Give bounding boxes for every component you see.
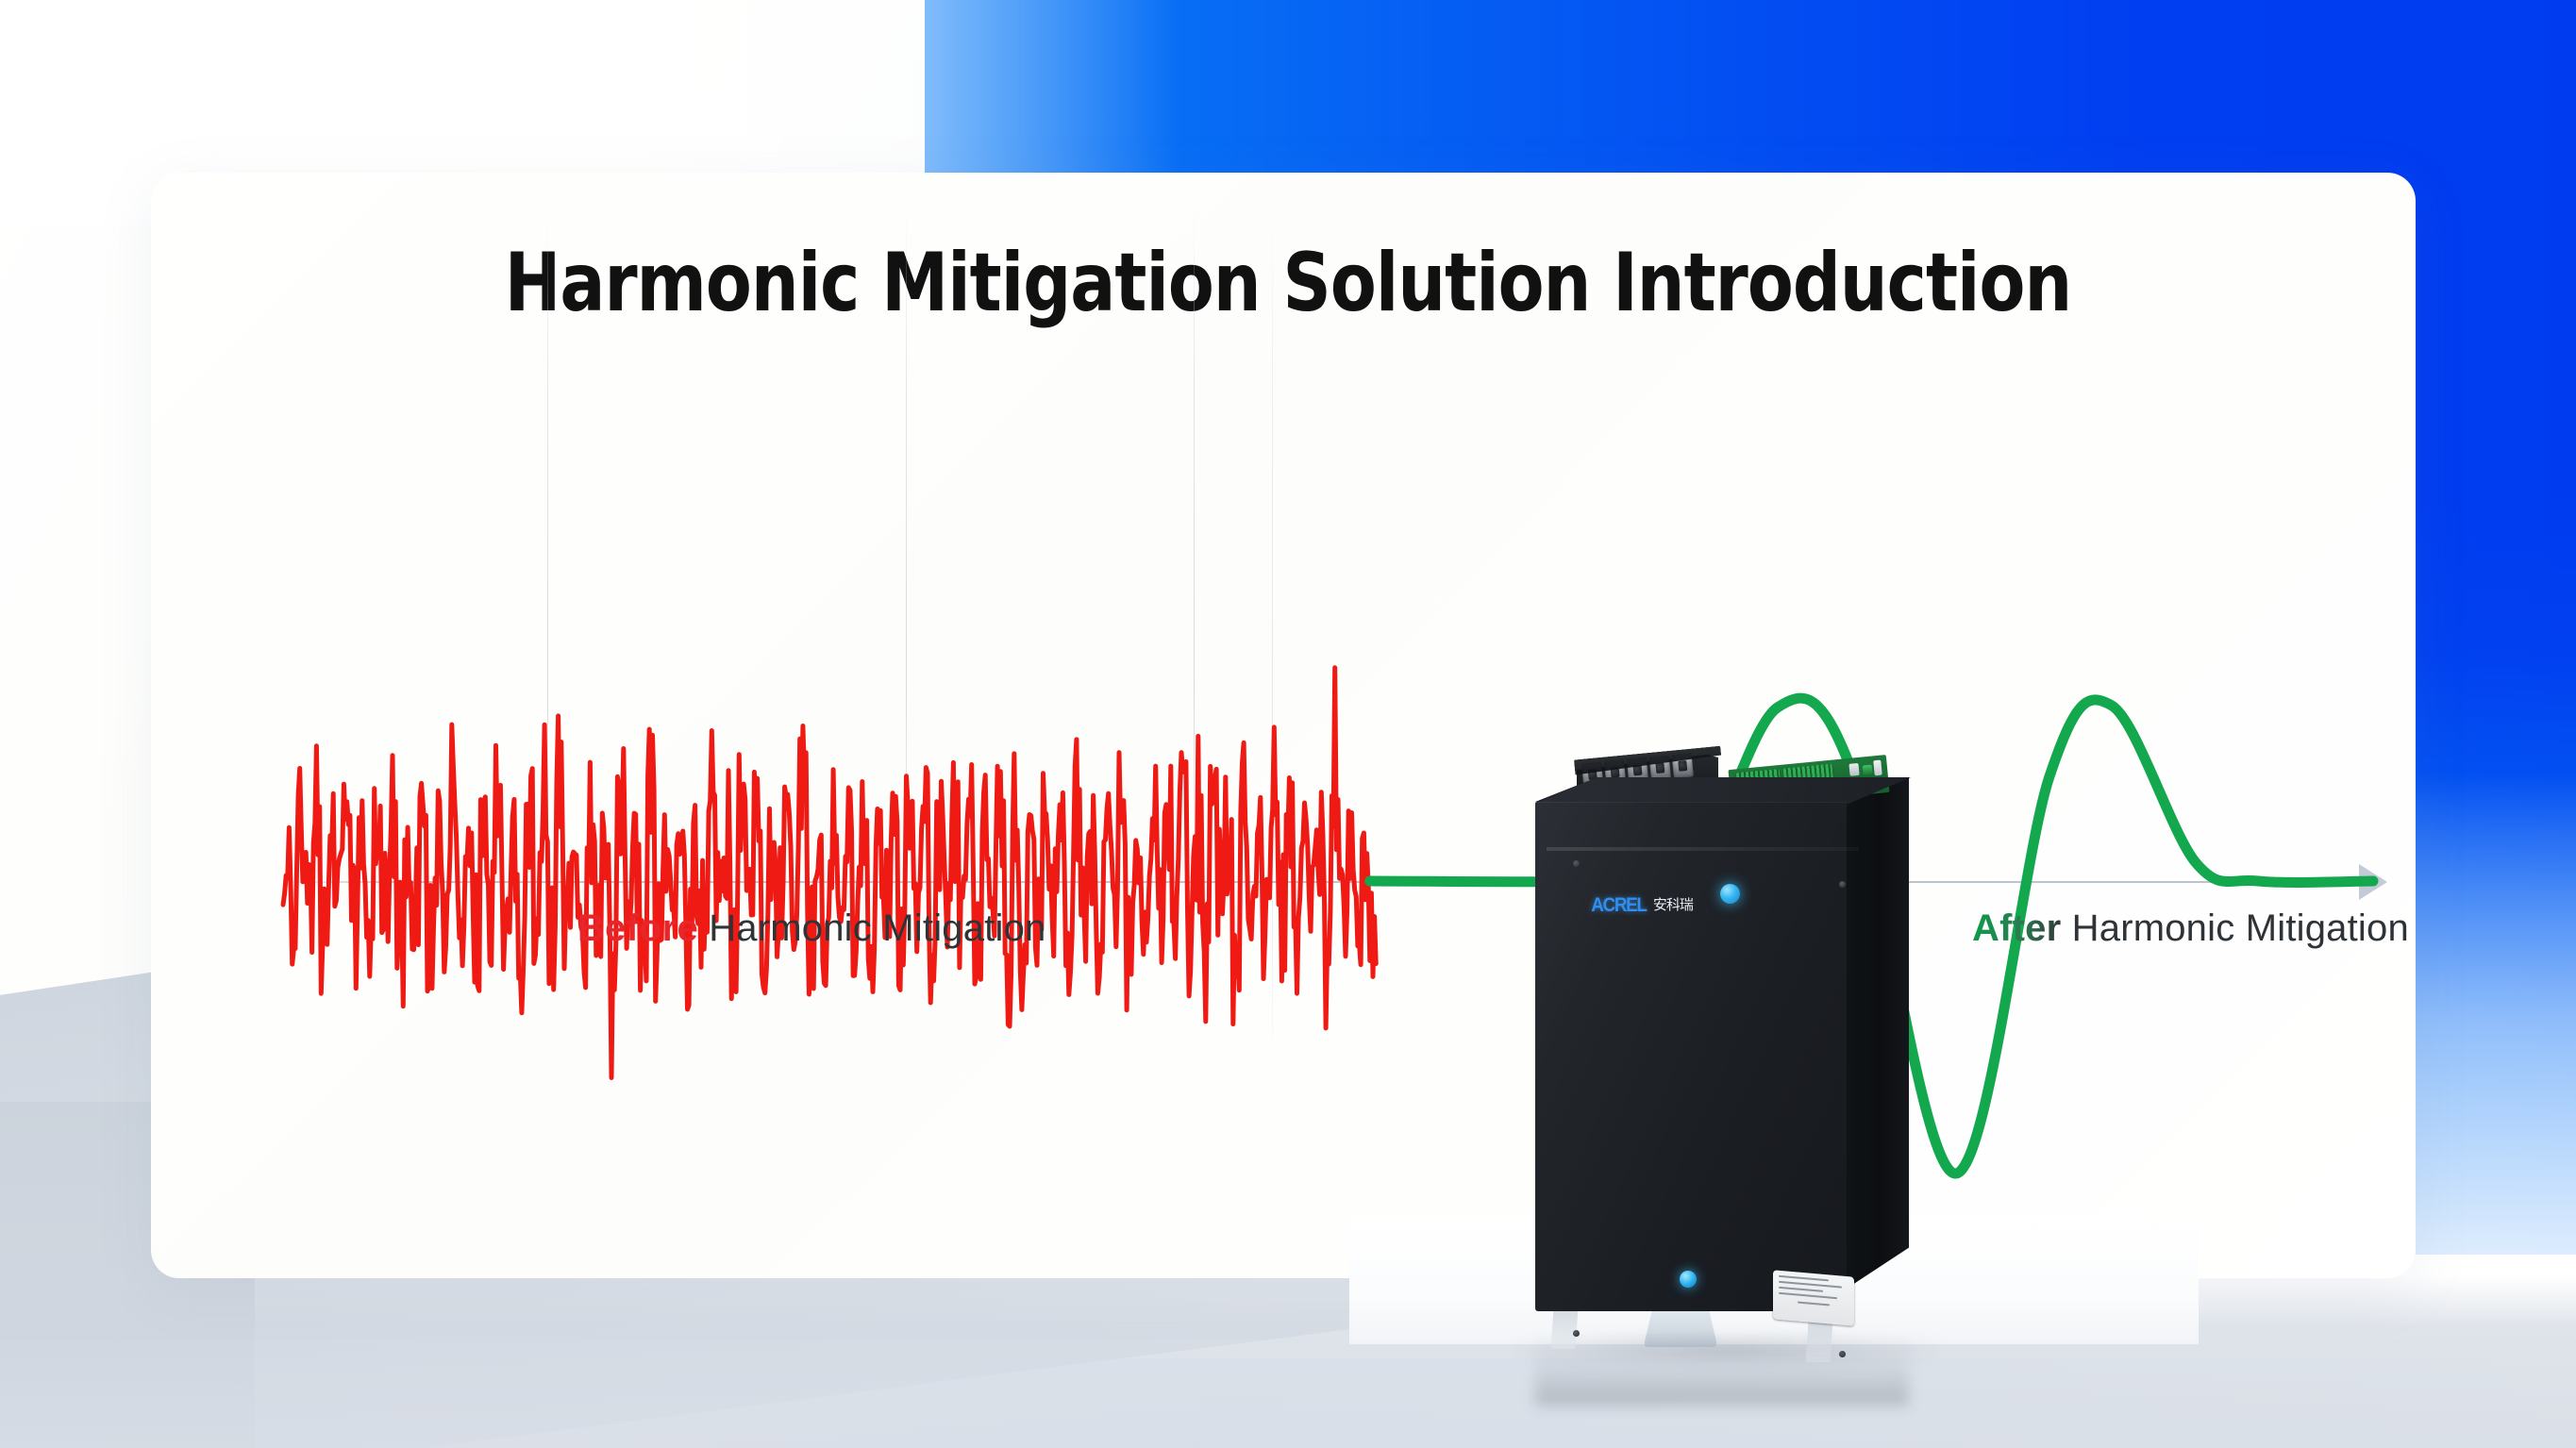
panel-screw [1839,881,1846,888]
caption-before: Before Harmonic Mitigation [577,907,1045,950]
pcb-component-2 [1863,765,1873,775]
device-spec-label [1773,1270,1854,1326]
device-reflection [1535,1340,1909,1406]
status-led-icon [1680,1271,1697,1288]
slide-canvas: Harmonic Mitigation Solution Introductio… [0,0,2576,1448]
spec-label-line [1779,1275,1829,1282]
harmonic-mitigation-device: ACREL 安科瑞 [1524,755,1934,1358]
spec-label-line [1779,1292,1837,1299]
device-side-panel [1847,777,1909,1289]
device-front-panel: ACREL 安科瑞 [1535,802,1847,1311]
power-led-icon [1720,884,1740,904]
panel-screw [1573,860,1580,867]
caption-before-accent: Before [577,907,698,949]
pcb-component-3 [1873,760,1882,776]
caption-before-rest: Harmonic Mitigation [698,907,1046,949]
waveform-comparison-chart [151,311,2416,915]
device-top-bevel [1547,847,1859,851]
pcb-component-1 [1848,763,1859,776]
caption-after: After Harmonic Mitigation [1972,907,2409,950]
caption-after-rest: Harmonic Mitigation [2061,907,2409,949]
panel-screw [1573,1330,1580,1337]
brand-mark-cn: 安科瑞 [1653,898,1693,912]
brand-mark-text: ACREL [1591,895,1646,915]
spec-label-line [1779,1287,1823,1292]
caption-after-accent: After [1972,907,2061,949]
waveform-plot-svg [151,311,2416,915]
device-brand-logo: ACREL 安科瑞 [1588,892,1699,917]
spec-label-line [1798,1302,1830,1307]
